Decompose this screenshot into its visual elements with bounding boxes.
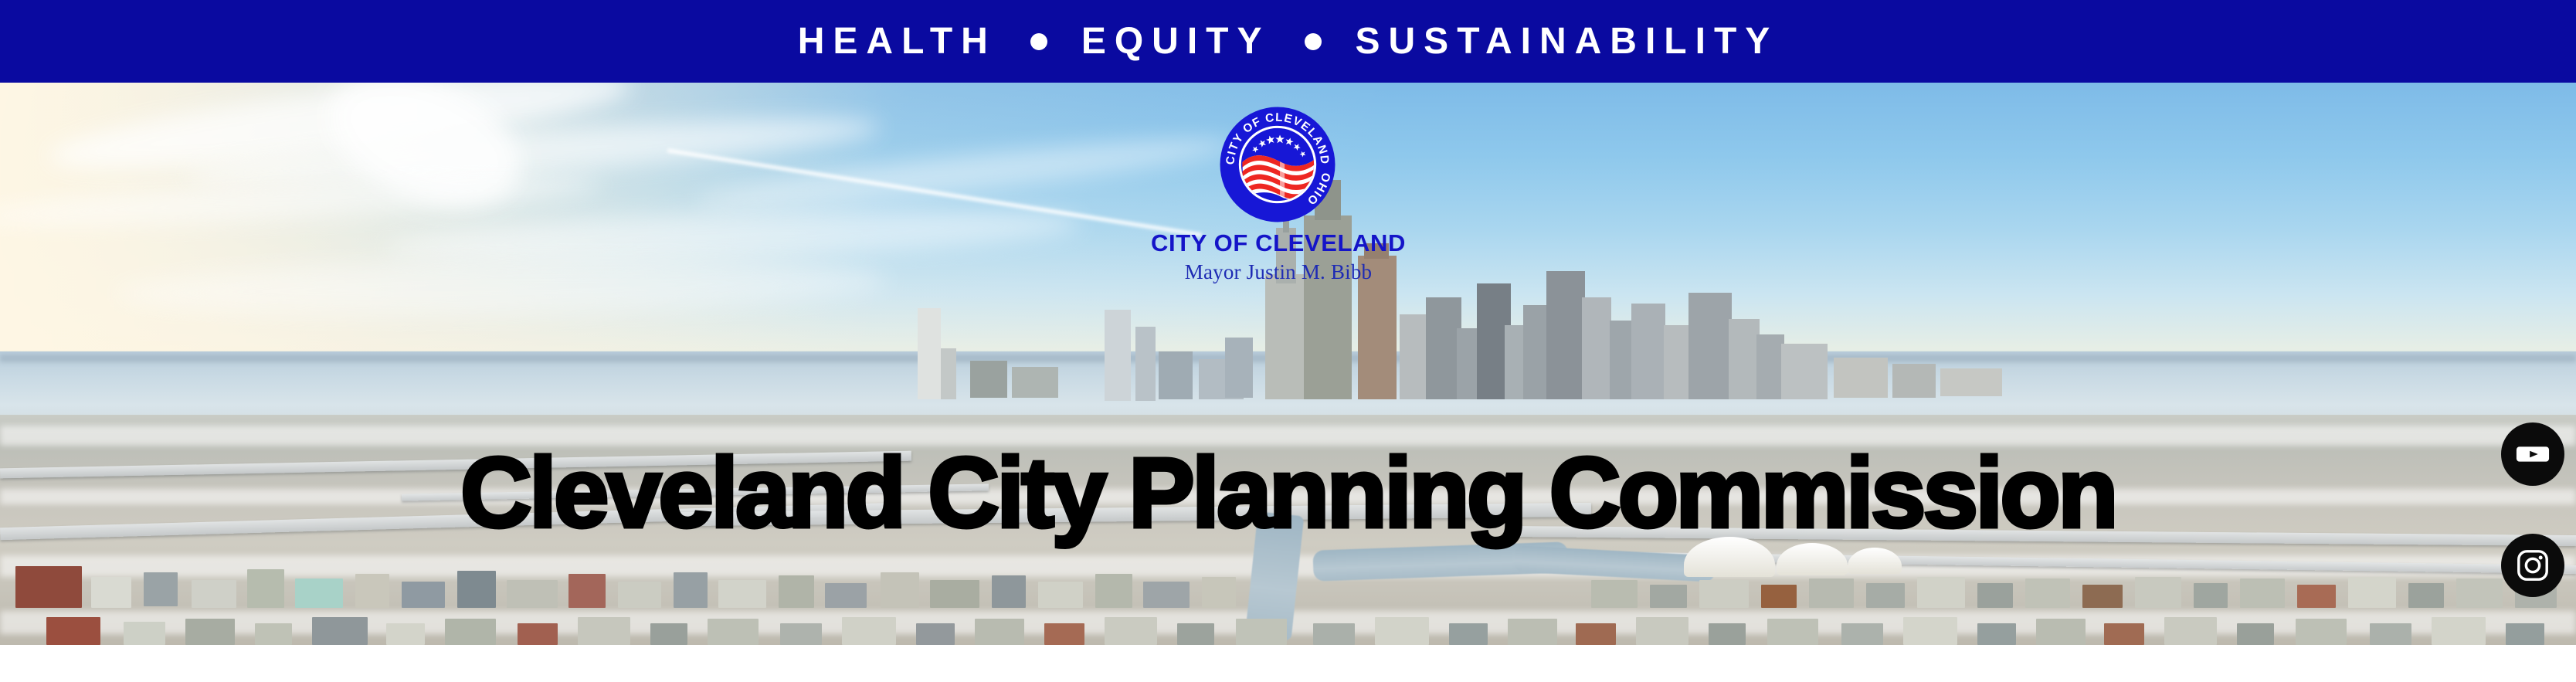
tagline-inner: HEALTH EQUITY SUSTAINABILITY	[798, 23, 1779, 60]
city-of-cleveland-seal: CITY OF CLEVELAND OHIO	[1219, 106, 1336, 223]
seal-icon: CITY OF CLEVELAND OHIO	[1219, 106, 1336, 223]
cleveland-planning-banner: HEALTH EQUITY SUSTAINABILITY	[0, 0, 2576, 682]
tagline-word-health: HEALTH	[798, 23, 996, 60]
bullet-dot-icon-2	[1305, 33, 1322, 50]
youtube-button[interactable]	[2501, 422, 2564, 486]
bullet-dot-icon-1	[1030, 33, 1047, 50]
bottom-white-gutter	[0, 645, 2576, 682]
city-name-label: CITY OF CLEVELAND	[996, 231, 1560, 255]
mayor-name-label: Mayor Justin M. Bibb	[996, 262, 1560, 283]
tagline-word-sustainability: SUSTAINABILITY	[1356, 23, 1779, 60]
youtube-icon	[2515, 436, 2551, 472]
instagram-button[interactable]	[2501, 534, 2564, 597]
page-title: Cleveland City Planning Commission	[0, 444, 2576, 543]
tagline-word-equity: EQUITY	[1081, 23, 1271, 60]
social-media-rail	[2501, 422, 2568, 645]
hero-photo: CITY OF CLEVELAND OHIO	[0, 83, 2576, 645]
tagline-bar: HEALTH EQUITY SUSTAINABILITY	[0, 0, 2576, 83]
city-identity-block: CITY OF CLEVELAND Mayor Justin M. Bibb	[996, 231, 1560, 283]
instagram-icon	[2515, 548, 2551, 583]
